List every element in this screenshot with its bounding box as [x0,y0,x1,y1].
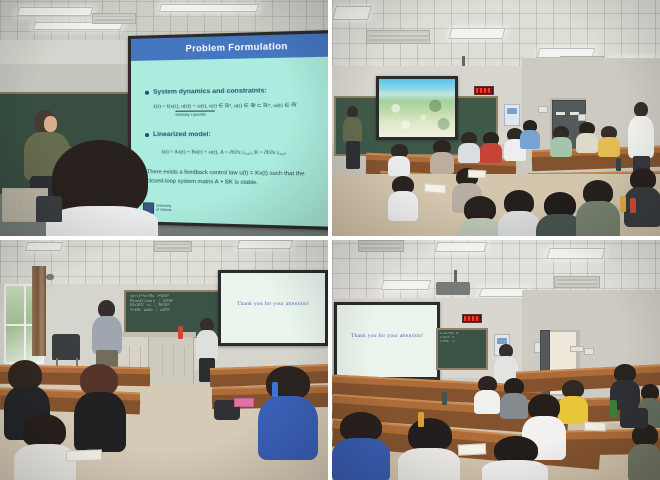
student-head [634,102,648,117]
projection-screen[interactable] [376,76,458,140]
slide-title: Problem Formulation [131,33,328,61]
light-switch [538,106,548,113]
seated-student [458,132,480,162]
student-torso [598,137,620,157]
collage-photo-bottom-left[interactable]: x(t+1)=Ax+Bu J=Σ‖x‖² P(cond) | min u | A… [0,240,328,480]
seated-student [388,144,410,174]
slide-title-bar: Problem Formulation [131,33,328,61]
photo-collage: Problem Formulation System dynamics and … [0,0,660,480]
ceiling-lamp [381,280,432,290]
seated-student [398,418,460,480]
presenter-torso [92,316,122,354]
backpack [620,408,648,428]
wall-poster [504,104,520,126]
ceiling-lamp [448,28,505,39]
seated-student [498,190,540,236]
student-hair [22,414,66,448]
drink-bottle [272,382,278,397]
seated-student [258,366,318,458]
bullet-dot-icon [145,133,149,137]
seated-student [550,126,572,156]
ceiling-lamp [332,6,372,20]
air-conditioner-vent [154,241,192,252]
slide-bullet-2: Linearized model: [145,131,211,138]
student-torso [430,152,454,174]
slide-equation-1: ẋ(t) = f(x(t), u(t)) + ω(t), x(t) ∈ ℝⁿ, … [153,103,297,111]
seated-student [474,376,500,412]
drink-bottle [418,412,424,427]
slide-equation-1-note: Globally Lipschitz [175,113,206,117]
student-torso [458,218,502,236]
led-exit-sign [462,314,482,323]
curtain [32,266,46,356]
underbrace-line [175,110,214,111]
uvic-logo-text: University of Victoria [156,204,171,212]
aerial-landscape-image [379,79,455,137]
ceiling-lamp [17,7,94,16]
wall-switch [584,348,594,355]
seated-student [332,412,390,480]
student-torso [550,137,572,157]
student-torso [74,392,126,452]
projection-screen[interactable]: Thank you for your attention! [218,270,328,346]
student-torso [458,143,480,163]
collage-photo-top-right[interactable] [332,0,660,236]
slide-bullet-2-label: Linearized model: [153,131,211,138]
ceiling-lamp [479,288,528,297]
drink-bottle [616,158,621,171]
front-cabinet [148,336,194,390]
student-torso [332,438,390,480]
student-torso [520,130,540,149]
student-torso [576,133,598,153]
collage-photo-top-left[interactable]: Problem Formulation System dynamics and … [0,0,328,236]
student-torso [628,116,654,158]
slide-equation-2: ẋ(t) = Ax(t) + Bu(t) + ω(t), A = ∂f/∂x |… [161,149,286,156]
projection-screen[interactable]: Problem Formulation System dynamics and … [128,30,328,231]
ceiling-lamp [546,248,605,259]
seated-student [576,122,598,152]
ceiling-lamp [435,242,488,252]
wall-switch [578,114,586,121]
seated-student [598,126,620,156]
seated-student [520,120,540,148]
seated-student [482,436,548,480]
slide-body-line-1: There exists a feedback control law u(t)… [147,169,305,179]
ceiling-lamp [237,240,294,249]
seated-student [624,168,660,226]
student-torso [258,396,318,460]
presenter-torso [196,330,218,360]
student-torso [474,390,500,414]
drink-bottle [610,400,617,418]
seated-student [430,140,454,172]
uvic-logo-line-2: of Victoria [156,208,171,212]
notebook [424,183,447,194]
notebook [458,443,487,455]
collage-photo-bottom-right[interactable]: Thank you for your attention! ẋ=Ax+Bu K … [332,240,660,480]
slide-surface: Problem Formulation System dynamics and … [131,33,328,227]
thank-you-slide-text: Thank you for your attention! [221,301,325,307]
air-conditioner-vent [358,240,404,252]
student-torso [498,211,540,236]
notebook [584,422,606,432]
foreground-student [52,140,148,236]
slide-problem-formulation: Problem Formulation System dynamics and … [131,33,328,227]
air-conditioner-vent [92,13,136,24]
door-sign [570,346,584,352]
seated-student [388,176,418,220]
speaker [342,106,364,170]
student-torso [388,156,410,176]
ceiling-lamp [25,242,64,251]
slide-body-line-2: closed-loop system matrix A + BK is stab… [147,178,258,187]
notebook [66,449,102,461]
drink-bottle [620,196,626,212]
ceiling-lamp [159,4,259,12]
projection-screen[interactable]: Thank you for your attention! [334,302,440,380]
air-conditioner-vent [366,30,430,44]
projector-mount [454,270,457,282]
student-torso [14,444,76,480]
seated-student [14,414,76,480]
student-torso [480,143,502,163]
student-torso [482,460,548,480]
notebook [468,170,486,179]
seated-student [480,132,502,162]
seated-student [458,196,502,236]
slide-surface: Thank you for your attention! [221,273,325,343]
notebook [234,398,254,407]
window-mullion [24,284,26,360]
slide-surface [379,79,455,137]
door-sign [556,112,565,115]
chalkboard-handwriting: ẋ=Ax+Bu K J=Σ‖x‖² P A+BK ω [440,332,484,344]
speaker-torso [343,117,362,143]
chair [36,196,62,222]
projector-mount [462,56,465,66]
security-camera [46,274,54,280]
student-torso [398,448,460,480]
student-shoulders [46,206,158,236]
drink-bottle [630,198,636,213]
seated-student [74,364,126,450]
chair [52,334,80,360]
student-torso [628,444,660,480]
ceiling-projector [436,282,470,295]
presenter-left [92,300,122,374]
drink-bottle [178,326,183,339]
bullet-dot-icon [145,90,149,94]
slide-bullet-1: System dynamics and constraints: [145,87,267,96]
drink-bottle [442,392,447,405]
student-hair [408,418,452,452]
air-conditioner-vent [554,276,600,288]
student-torso [576,201,620,236]
student-torso [388,191,418,221]
slide-surface: Thank you for your attention! [337,305,437,377]
chalkboard-handwriting: x(t+1)=Ax+Bu J=Σ‖x‖² P(cond) | min u | A… [130,294,216,312]
thank-you-slide-text: Thank you for your attention! [337,333,437,339]
presenter-face [44,116,57,132]
slide-bullet-1-label: System dynamics and constraints: [153,87,267,95]
seated-student [628,424,660,480]
speaker-legs [346,141,360,169]
led-exit-sign [474,86,494,95]
seated-student [576,180,620,236]
